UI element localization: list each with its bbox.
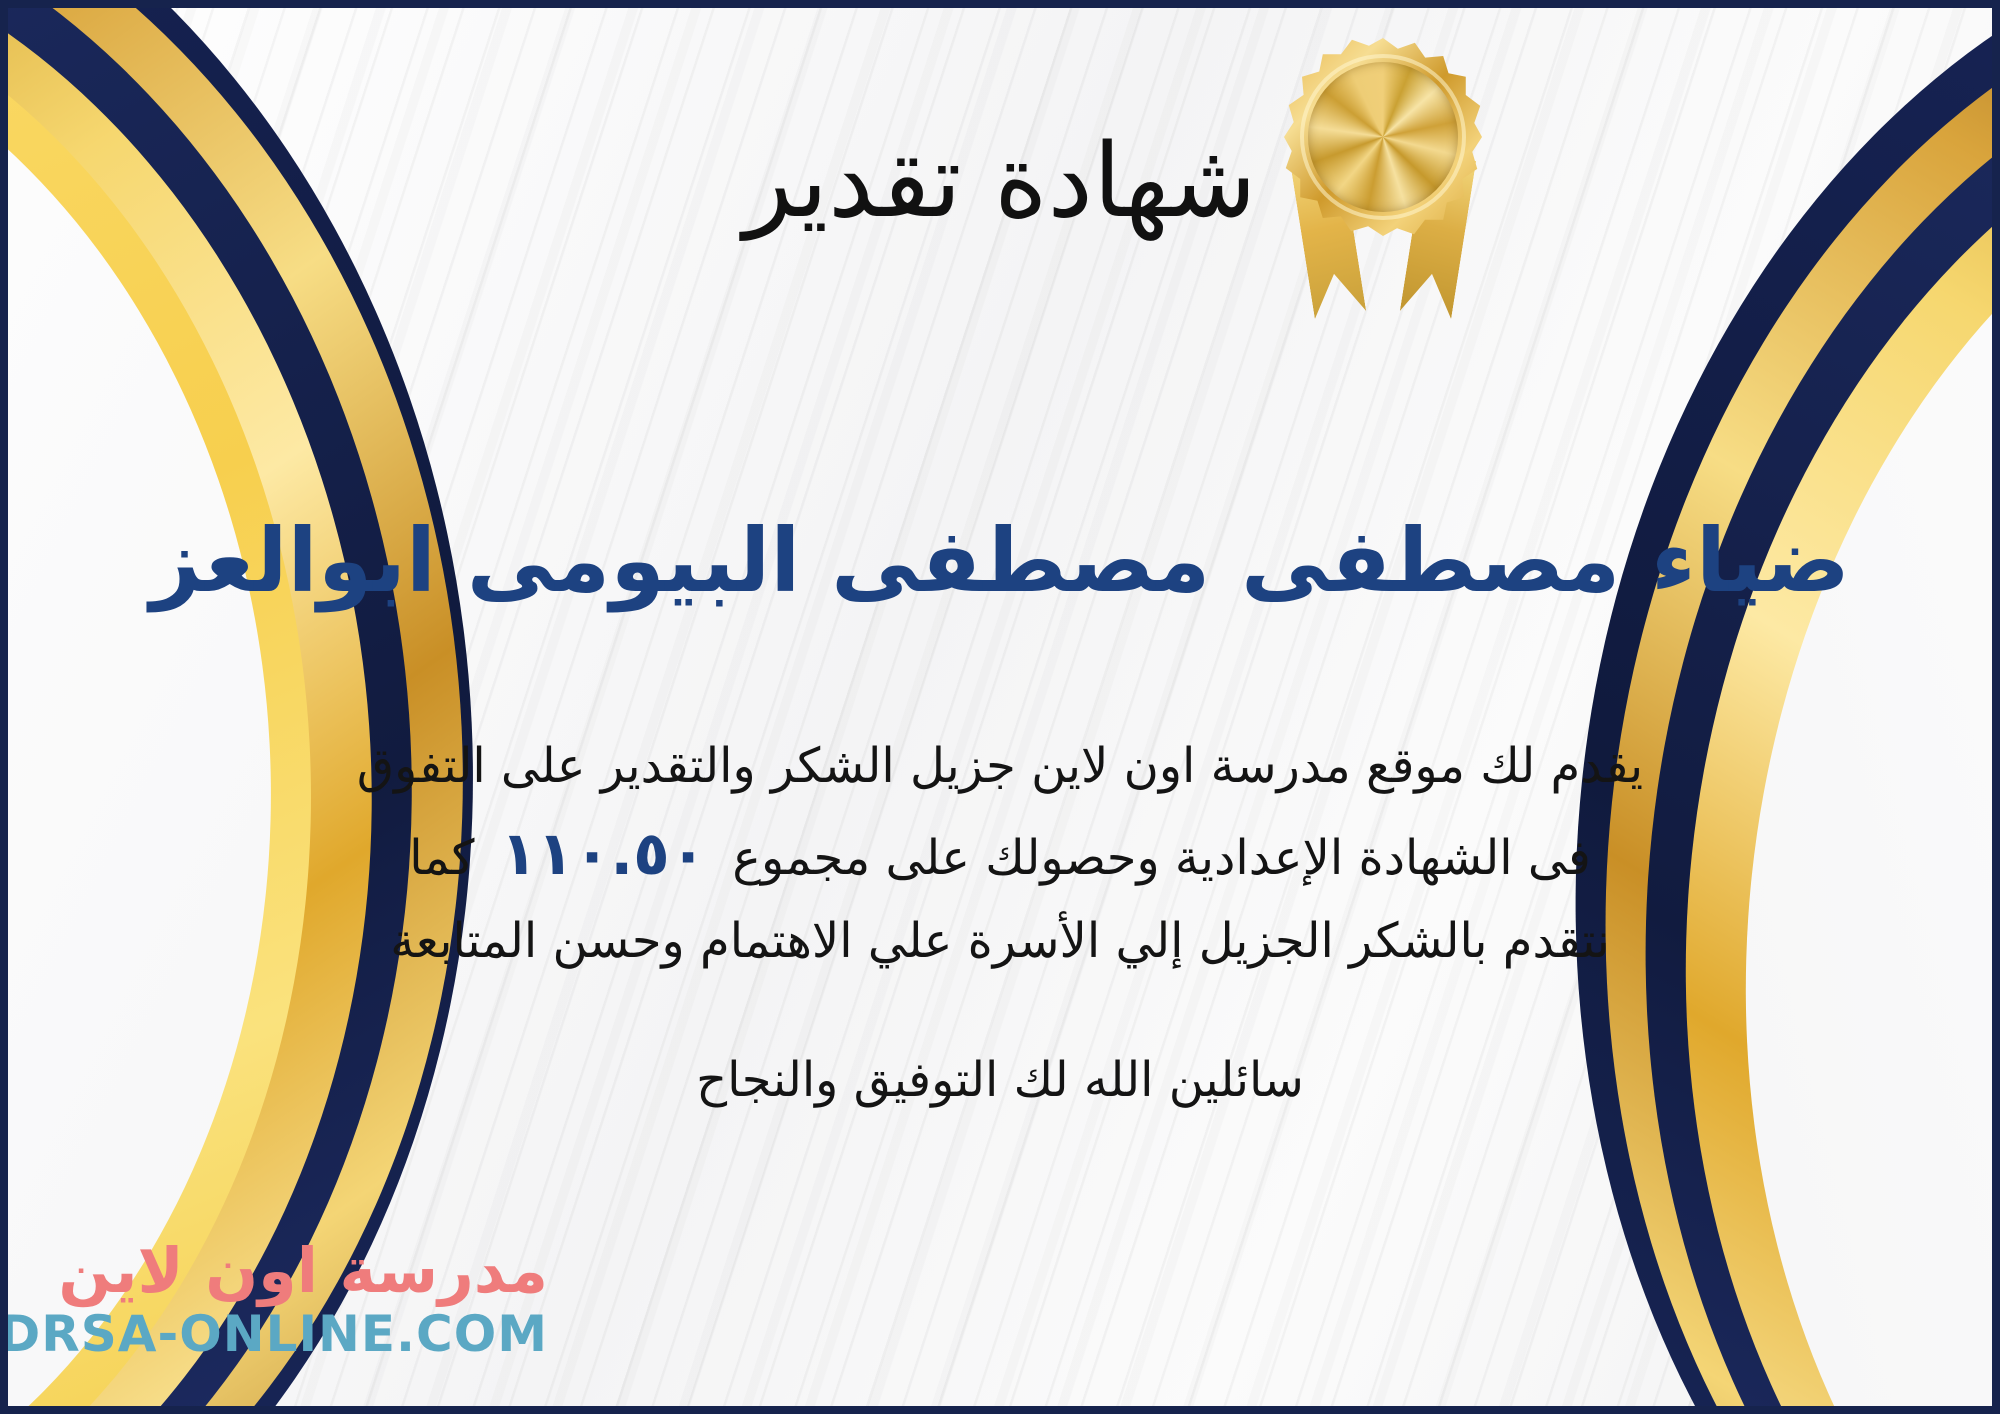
certificate-page: شهادة تقدير ضياء مصطفى مصطفى البيومى ابو… (0, 0, 2000, 1414)
brand-arabic-name: مدرسة اون لاين (0, 1238, 548, 1303)
body-line-1: يقدم لك موقع مدرسة اون لاين جزيل الشكر و… (225, 728, 1775, 806)
body-line-2-prefix: فى الشهادة الإعدادية وحصولك على مجموع (732, 820, 1590, 898)
brand-url: MADRSA-ONLINE.COM (0, 1305, 548, 1363)
certificate-body: يقدم لك موقع مدرسة اون لاين جزيل الشكر و… (225, 728, 1775, 981)
recipient-name: ضياء مصطفى مصطفى البيومى ابوالعز (60, 512, 1940, 611)
body-line-2-suffix: كما (409, 820, 474, 898)
score-value: ١١٠.٥٠ (500, 806, 706, 903)
certificate-content: شهادة تقدير ضياء مصطفى مصطفى البيومى ابو… (0, 0, 2000, 1414)
body-line-2: فى الشهادة الإعدادية وحصولك على مجموع ١١… (225, 806, 1775, 903)
brand-text-column: مدرسة اون لاين MADRSA-ONLINE.COM (0, 1238, 548, 1363)
page-title: شهادة تقدير (0, 128, 2000, 235)
body-line-3: نتقدم بالشكر الجزيل إلي الأسرة علي الاهت… (225, 903, 1775, 981)
brand-logo[interactable]: مدرسة اون لاين MADRSA-ONLINE.COM (28, 1238, 548, 1388)
brand-logo-row: مدرسة اون لاين MADRSA-ONLINE.COM (28, 1238, 548, 1363)
closing-wish-text: سائلين الله لك التوفيق والنجاح (0, 1042, 2000, 1119)
